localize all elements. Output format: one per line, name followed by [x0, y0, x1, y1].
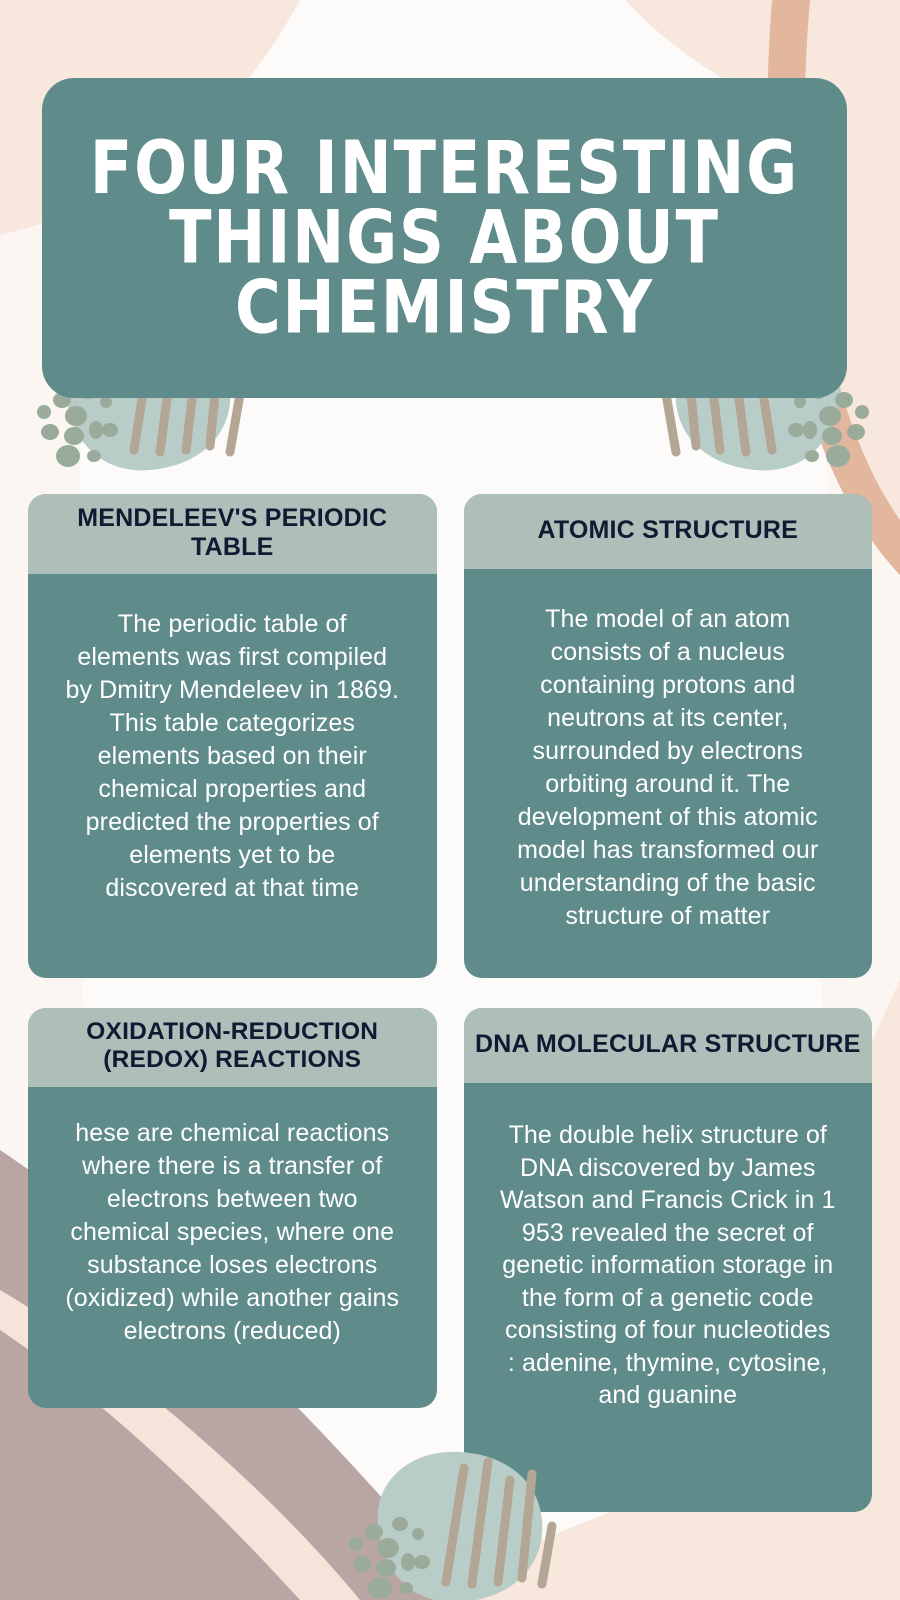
- fact-card-description: The double helix structure of DNA discov…: [500, 1119, 835, 1412]
- fact-card-description: The model of an atom consists of a nucle…: [517, 603, 818, 933]
- fact-card-title: MENDELEEV'S PERIODIC TABLE: [38, 504, 427, 562]
- fact-card-grid: MENDELEEV'S PERIODIC TABLE The periodic …: [28, 494, 872, 1512]
- fact-card-header: ATOMIC STRUCTURE: [464, 494, 873, 569]
- fact-card-body: The periodic table of elements was first…: [28, 574, 437, 978]
- card-row-1: MENDELEEV'S PERIODIC TABLE The periodic …: [28, 494, 872, 978]
- fact-card-periodic-table[interactable]: MENDELEEV'S PERIODIC TABLE The periodic …: [28, 494, 437, 978]
- fact-card-description: hese are chemical reactions where there …: [65, 1117, 399, 1348]
- fact-card-title: OXIDATION-REDUCTION (REDOX) REACTIONS: [38, 1018, 427, 1075]
- fact-card-header: DNA MOLECULAR STRUCTURE: [464, 1008, 873, 1083]
- fact-card-body: hese are chemical reactions where there …: [28, 1087, 437, 1408]
- fact-card-title: ATOMIC STRUCTURE: [537, 516, 798, 545]
- leaf-cluster-bottom-icon: [330, 1432, 580, 1600]
- fact-card-header: MENDELEEV'S PERIODIC TABLE: [28, 494, 437, 574]
- fact-card-atomic-structure[interactable]: ATOMIC STRUCTURE The model of an atom co…: [464, 494, 873, 978]
- fact-card-body: The model of an atom consists of a nucle…: [464, 569, 873, 978]
- page-title: FOUR INTERESTING THINGS ABOUT CHEMISTRY: [60, 134, 829, 342]
- fact-card-title: DNA MOLECULAR STRUCTURE: [475, 1030, 861, 1059]
- fact-card-description: The periodic table of elements was first…: [65, 608, 399, 905]
- poster-canvas: FOUR INTERESTING THINGS ABOUT CHEMISTRY …: [0, 0, 900, 1600]
- title-banner: FOUR INTERESTING THINGS ABOUT CHEMISTRY: [42, 78, 847, 398]
- fact-card-header: OXIDATION-REDUCTION (REDOX) REACTIONS: [28, 1008, 437, 1087]
- fact-card-redox-reactions[interactable]: OXIDATION-REDUCTION (REDOX) REACTIONS he…: [28, 1008, 437, 1408]
